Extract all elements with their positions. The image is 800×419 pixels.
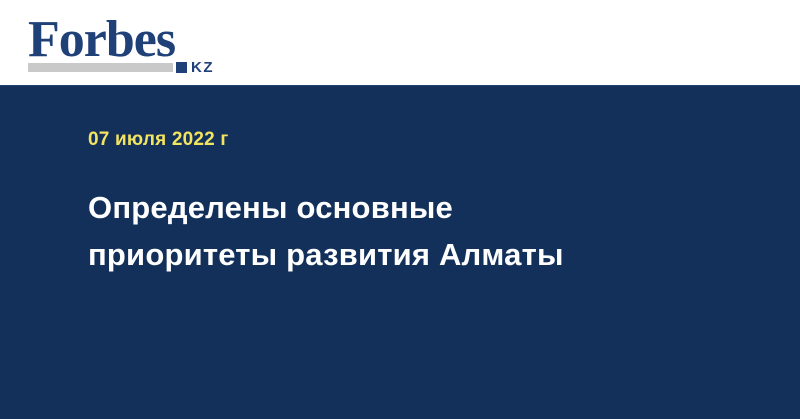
article-content: 07 июля 2022 г Определены основные приор… xyxy=(88,86,748,299)
logo-square-icon xyxy=(176,62,187,73)
logo-underbar xyxy=(28,63,173,72)
article-title-line: Определены основные xyxy=(88,184,668,231)
forbes-kz-logo[interactable]: Forbes KZ xyxy=(28,14,228,76)
article-title: Определены основные приоритеты развития … xyxy=(88,184,668,278)
article-card: Forbes KZ 07 июля 2022 г Определены осно… xyxy=(0,0,800,419)
logo-kz-suffix: KZ xyxy=(191,60,214,75)
forbes-wordmark: Forbes xyxy=(28,14,175,66)
article-title-line: приоритеты развития Алматы xyxy=(88,231,668,278)
site-header: Forbes KZ xyxy=(0,0,800,86)
article-date: 07 июля 2022 г xyxy=(88,128,748,152)
